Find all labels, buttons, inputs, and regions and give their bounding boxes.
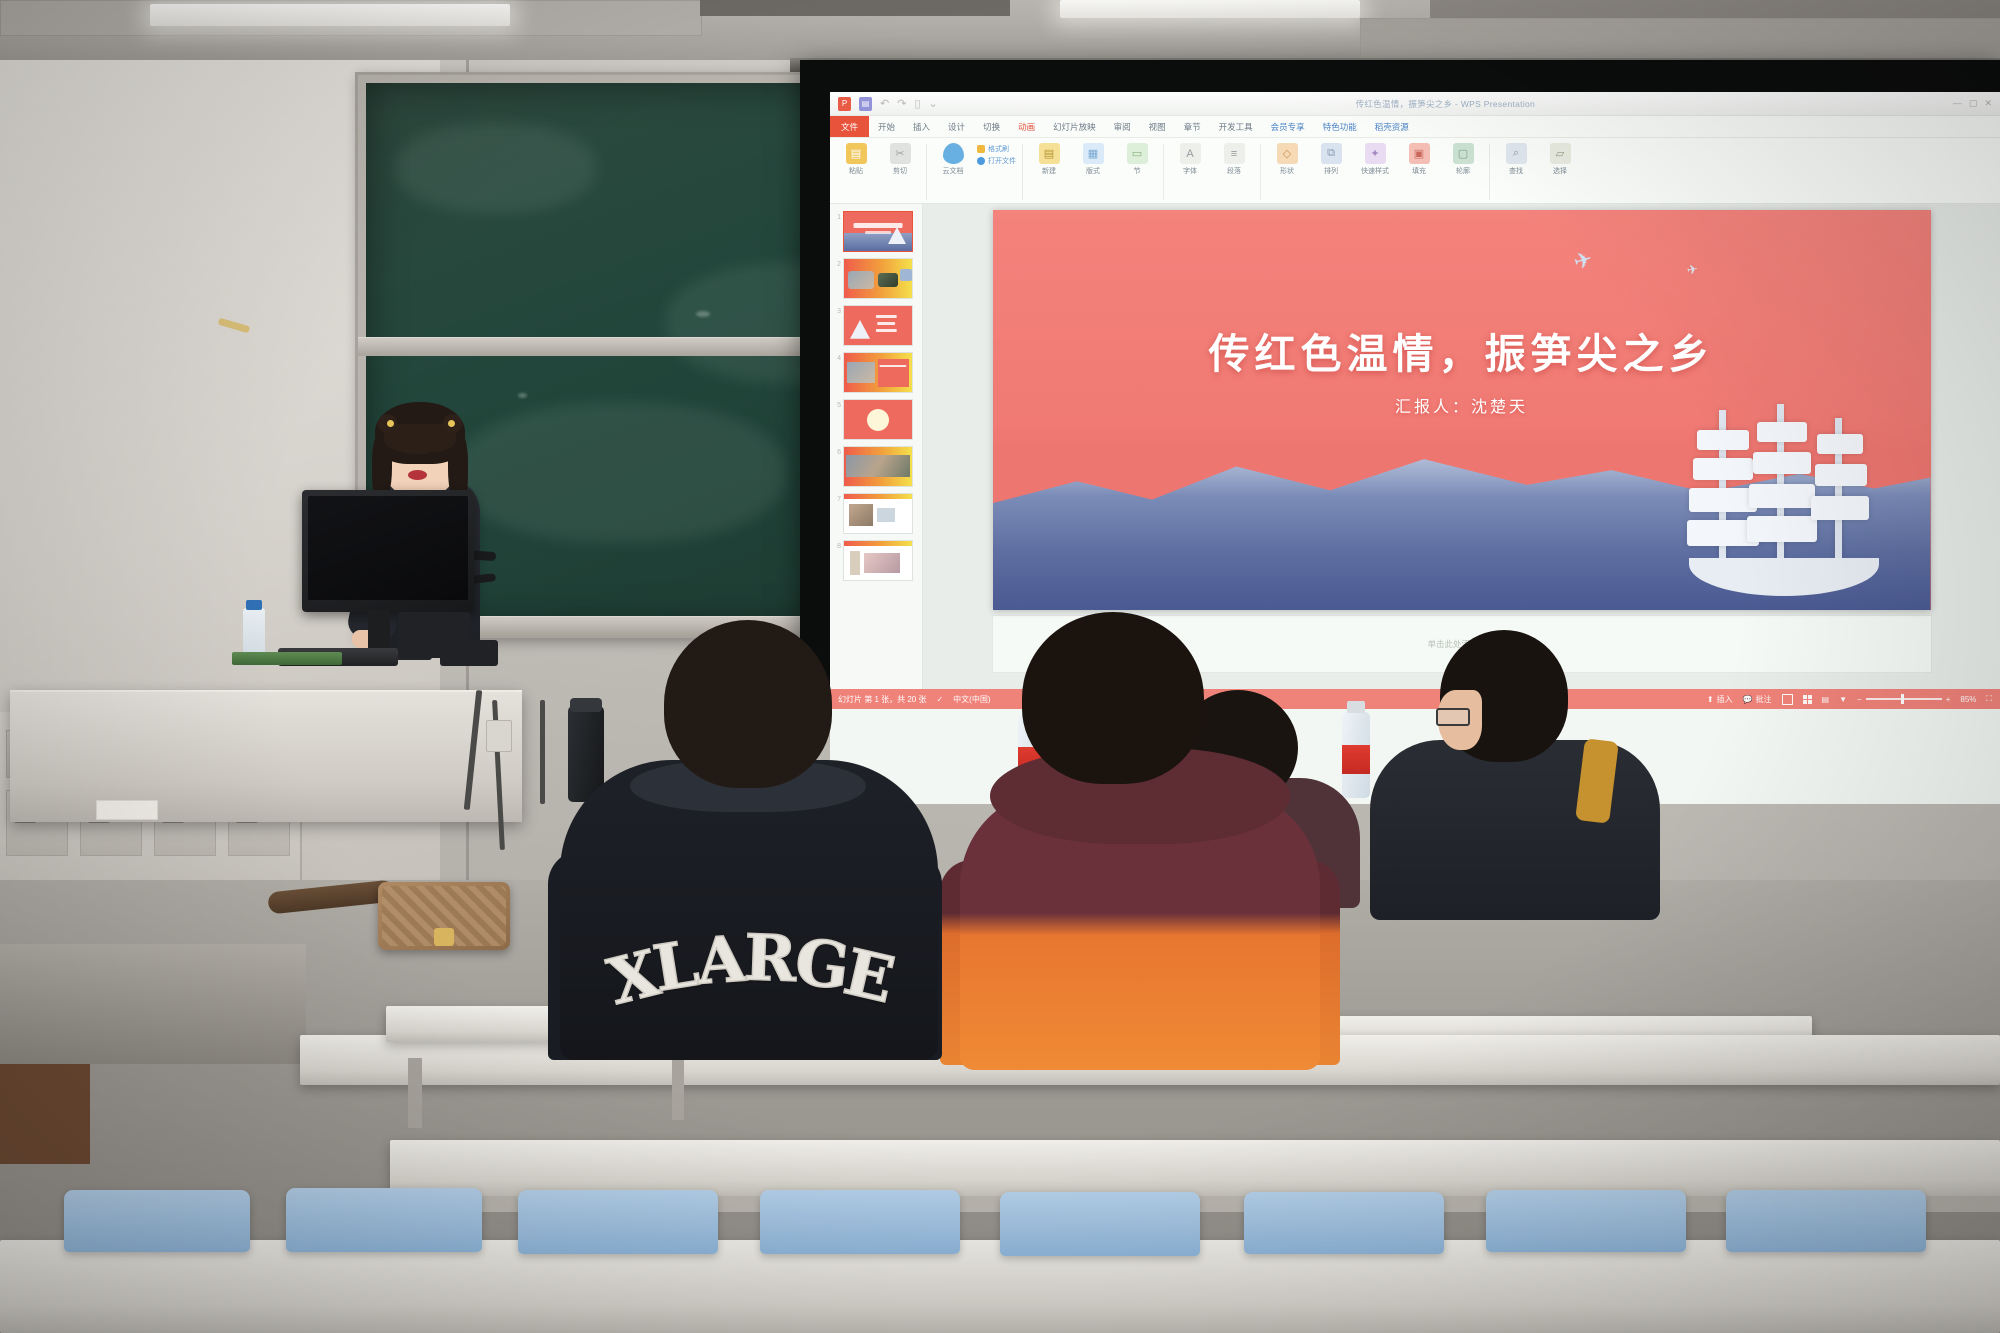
- ribbon-label: 节: [1134, 166, 1141, 176]
- slide-preview[interactable]: [843, 399, 913, 440]
- quick-access-more-icon[interactable]: ⌄: [929, 97, 938, 110]
- arrange-icon[interactable]: ⧉: [1321, 143, 1342, 164]
- new-slide-icon[interactable]: ▤: [1039, 143, 1060, 164]
- water-bottle: [1342, 712, 1370, 798]
- jacket-back-text: X L A R G E: [575, 895, 925, 1025]
- cloud-icon[interactable]: [943, 143, 964, 164]
- redo-icon[interactable]: ↷: [897, 97, 906, 110]
- ribbon-quickstyle-group[interactable]: ✦ 快速样式: [1355, 141, 1395, 178]
- ribbon-fill-group[interactable]: ▣ 填充: [1399, 141, 1439, 178]
- ribbon-label: 打开文件: [988, 156, 1016, 166]
- slide-number: 3: [832, 305, 841, 315]
- tab-design[interactable]: 设计: [939, 116, 974, 137]
- zoom-out-icon[interactable]: −: [1857, 695, 1862, 704]
- zoom-in-icon[interactable]: +: [1946, 695, 1951, 704]
- student-chair: [286, 1188, 482, 1252]
- student-chair: [518, 1190, 718, 1254]
- tab-slideshow[interactable]: 幻灯片放映: [1044, 116, 1105, 137]
- monitor-stand: [368, 610, 390, 652]
- ribbon-cloud-group[interactable]: 云文档: [933, 141, 973, 178]
- layout-icon[interactable]: ▦: [1083, 143, 1104, 164]
- cut-icon[interactable]: ✂: [890, 143, 911, 164]
- slide-title: 传红色温情，振笋尖之乡: [993, 320, 1931, 380]
- section-icon[interactable]: ▭: [1127, 143, 1148, 164]
- paper-sheet: [96, 800, 158, 820]
- student-chair: [1486, 1190, 1686, 1252]
- ribbon-label: 格式刷: [988, 144, 1009, 154]
- normal-view-button[interactable]: [1782, 694, 1793, 705]
- student-chair: [1726, 1190, 1926, 1252]
- slide-number: 6: [832, 446, 841, 456]
- tab-animation[interactable]: 动画: [1009, 116, 1044, 137]
- tab-developer[interactable]: 开发工具: [1210, 116, 1262, 137]
- fill-icon[interactable]: ▣: [1409, 143, 1430, 164]
- bird-icon: ✈: [1685, 261, 1699, 279]
- slide-preview[interactable]: [843, 258, 913, 299]
- ribbon-paste-group[interactable]: ▤ 粘贴: [836, 141, 876, 178]
- language-indicator[interactable]: 中文(中国): [953, 694, 990, 705]
- slide-number: 1: [832, 211, 841, 221]
- slide-preview[interactable]: [843, 352, 913, 393]
- slide-number: 7: [832, 493, 841, 503]
- tab-view[interactable]: 视图: [1140, 116, 1175, 137]
- slide-number: 5: [832, 399, 841, 409]
- desk-pad: [232, 652, 342, 665]
- fit-window-icon[interactable]: ⛶: [1986, 694, 1992, 704]
- student-front-center-head: [1022, 612, 1204, 784]
- student-front-right-torso: [1370, 740, 1660, 920]
- open-file-command[interactable]: 打开文件: [977, 156, 1016, 166]
- slide-preview[interactable]: [843, 211, 913, 252]
- ribbon-label: 粘贴: [849, 166, 863, 176]
- handbag: [378, 882, 510, 950]
- slide-preview[interactable]: [843, 305, 913, 346]
- power-cord: [540, 700, 545, 804]
- thermos-cap: [570, 698, 602, 712]
- ribbon-layout-group[interactable]: ▦ 版式: [1073, 141, 1113, 178]
- zoom-level[interactable]: 85%: [1960, 695, 1976, 704]
- zoom-slider[interactable]: − +: [1857, 695, 1950, 704]
- ribbon-section-group[interactable]: ▭ 节: [1117, 141, 1157, 178]
- ribbon-cut-group[interactable]: ✂ 剪切: [880, 141, 920, 178]
- ribbon-label: 云文档: [943, 166, 964, 176]
- presenter-eye: [396, 452, 405, 456]
- student-chair: [1244, 1192, 1444, 1254]
- ribbon-shapes-group[interactable]: ◇ 形状: [1267, 141, 1307, 178]
- ribbon-side-commands[interactable]: 格式刷 打开文件: [977, 141, 1016, 166]
- current-slide[interactable]: ✈ ✈ 传红色温情，振笋尖之乡 汇报人：沈楚天: [993, 210, 1931, 610]
- ribbon-label: 查找: [1509, 166, 1523, 176]
- ribbon-arrange-group[interactable]: ⧉ 排列: [1311, 141, 1351, 178]
- tab-home[interactable]: 开始: [869, 116, 904, 137]
- maximize-icon[interactable]: ▢: [1969, 98, 1978, 109]
- slide-preview[interactable]: [843, 493, 913, 534]
- slide-preview[interactable]: [843, 446, 913, 487]
- save-icon[interactable]: ▤: [859, 97, 872, 111]
- ribbon-label: 轮廓: [1456, 166, 1470, 176]
- slide-sorter-view-button[interactable]: [1803, 695, 1812, 704]
- ceiling-fluorescent-light: [1060, 0, 1360, 18]
- hair-clip-icon: [387, 420, 394, 427]
- ribbon-label: 选择: [1553, 166, 1567, 176]
- insert-button[interactable]: ⬆插入: [1707, 694, 1733, 705]
- slide-number: 8: [832, 540, 841, 550]
- slide-thumbnail-1[interactable]: 1: [830, 208, 922, 255]
- floor-panel: [0, 1064, 90, 1164]
- slide-thumbnail-6[interactable]: 6: [830, 443, 922, 490]
- ribbon-font-group[interactable]: A 字体: [1170, 141, 1210, 178]
- format-painter-command[interactable]: 格式刷: [977, 144, 1016, 154]
- ribbon-label: 快速样式: [1361, 166, 1389, 176]
- quickstyle-icon[interactable]: ✦: [1365, 143, 1386, 164]
- paste-icon[interactable]: ▤: [846, 143, 867, 164]
- comment-button[interactable]: 💬批注: [1743, 694, 1772, 705]
- spellcheck-icon[interactable]: ✓: [936, 695, 943, 704]
- document-title: 传红色温情，振笋尖之乡 - WPS Presentation: [1356, 98, 1536, 110]
- wall-socket: [486, 720, 512, 752]
- window-titlebar: P ▤ ↶ ↷ ▯ ⌄ 传红色温情，振笋尖之乡 - WPS Presentati…: [830, 92, 2000, 116]
- minimize-icon[interactable]: —: [1953, 98, 1962, 109]
- window-controls[interactable]: — ▢ ✕: [1953, 98, 1992, 109]
- tab-review[interactable]: 审阅: [1105, 116, 1140, 137]
- slide-thumbnail-2[interactable]: 2: [830, 255, 922, 302]
- sailing-ship-illustration: [1679, 404, 1889, 604]
- ribbon-label: 剪切: [893, 166, 907, 176]
- ribbon-label: 填充: [1412, 166, 1426, 176]
- slide-thumbnail-3[interactable]: 3: [830, 302, 922, 349]
- slide-thumbnail-8[interactable]: 8: [830, 537, 922, 584]
- presenter-eye: [427, 452, 436, 456]
- slide-number: 4: [832, 352, 841, 362]
- slide-thumbnail-7[interactable]: 7: [830, 490, 922, 537]
- ceiling-beam: [700, 0, 1010, 16]
- print-preview-icon[interactable]: ▯: [914, 97, 920, 110]
- desk-leg: [672, 1058, 684, 1120]
- ribbon-label: 版式: [1086, 166, 1100, 176]
- font-icon[interactable]: A: [1180, 143, 1201, 164]
- wps-presentation-window[interactable]: P ▤ ↶ ↷ ▯ ⌄ 传红色温情，振笋尖之乡 - WPS Presentati…: [830, 92, 2000, 804]
- reading-view-button[interactable]: ▤: [1822, 695, 1830, 704]
- wps-logo-icon[interactable]: P: [838, 97, 851, 111]
- eyeglasses-icon: [1436, 708, 1470, 726]
- tab-insert[interactable]: 插入: [904, 116, 939, 137]
- slide-preview[interactable]: [843, 540, 913, 581]
- tab-file[interactable]: 文件: [830, 116, 869, 137]
- slideshow-button[interactable]: ▼: [1839, 695, 1847, 704]
- ribbon-label: 字体: [1183, 166, 1197, 176]
- student-chair: [760, 1190, 960, 1254]
- ribbon-new-slide-group[interactable]: ▤ 新建: [1029, 141, 1069, 178]
- desk-leg: [408, 1058, 422, 1128]
- editor-main-area: 1 2 3: [830, 204, 2000, 689]
- undo-icon[interactable]: ↶: [880, 97, 889, 110]
- ceiling-fluorescent-light: [150, 4, 510, 26]
- ribbon-toolbar[interactable]: ▤ 粘贴 ✂ 剪切 云文档 格式刷 打开文件: [830, 138, 2000, 204]
- ribbon-label: 新建: [1042, 166, 1056, 176]
- presenter-monitor: [302, 490, 474, 612]
- ribbon-tab-bar[interactable]: 文件 开始 插入 设计 切换 动画 幻灯片放映 审阅 视图 章节 开发工具 会员…: [830, 116, 2000, 138]
- bottle-cap: [246, 600, 262, 610]
- shapes-icon[interactable]: ◇: [1277, 143, 1298, 164]
- podium-desktop: [10, 690, 522, 822]
- desktop-device: [440, 640, 498, 666]
- paragraph-icon[interactable]: ≡: [1224, 143, 1245, 164]
- select-icon[interactable]: ▱: [1550, 143, 1571, 164]
- status-bar[interactable]: 幻灯片 第 1 张，共 20 张 ✓ 中文(中国) ⬆插入 💬批注 ▤ ▼ − …: [830, 689, 2000, 709]
- slide-thumbnail-panel[interactable]: 1 2 3: [830, 204, 923, 689]
- tab-features[interactable]: 特色功能: [1314, 116, 1366, 137]
- slide-counter: 幻灯片 第 1 张，共 20 张: [838, 694, 926, 705]
- student-chair: [1000, 1192, 1200, 1256]
- classroom-photo: P ▤ ↶ ↷ ▯ ⌄ 传红色温情，振笋尖之乡 - WPS Presentati…: [0, 0, 2000, 1333]
- search-icon[interactable]: ⌕: [1506, 143, 1527, 164]
- tab-section[interactable]: 章节: [1175, 116, 1210, 137]
- ribbon-label: 段落: [1227, 166, 1241, 176]
- tab-member[interactable]: 会员专享: [1262, 116, 1314, 137]
- close-icon[interactable]: ✕: [1984, 98, 1992, 109]
- slide-thumbnail-4[interactable]: 4: [830, 349, 922, 396]
- tab-docer[interactable]: 稻壳资源: [1366, 116, 1418, 137]
- outline-icon[interactable]: ▢: [1453, 143, 1474, 164]
- slide-thumbnail-5[interactable]: 5: [830, 396, 922, 443]
- hair-clip-icon: [448, 420, 455, 427]
- ribbon-paragraph-group[interactable]: ≡ 段落: [1214, 141, 1254, 178]
- cabinet-base: [0, 944, 306, 1064]
- monitor-screen: [308, 496, 468, 600]
- ribbon-find-group[interactable]: ⌕ 查找: [1496, 141, 1536, 178]
- presenter-mouth: [408, 470, 427, 480]
- ribbon-outline-group[interactable]: ▢ 轮廓: [1443, 141, 1483, 178]
- ribbon-label: 形状: [1280, 166, 1294, 176]
- student-chair: [64, 1190, 250, 1252]
- slide-number: 2: [832, 258, 841, 268]
- ribbon-select-group[interactable]: ▱ 选择: [1540, 141, 1580, 178]
- tab-transition[interactable]: 切换: [974, 116, 1009, 137]
- student-front-left-head: [664, 620, 832, 788]
- ribbon-label: 排列: [1324, 166, 1338, 176]
